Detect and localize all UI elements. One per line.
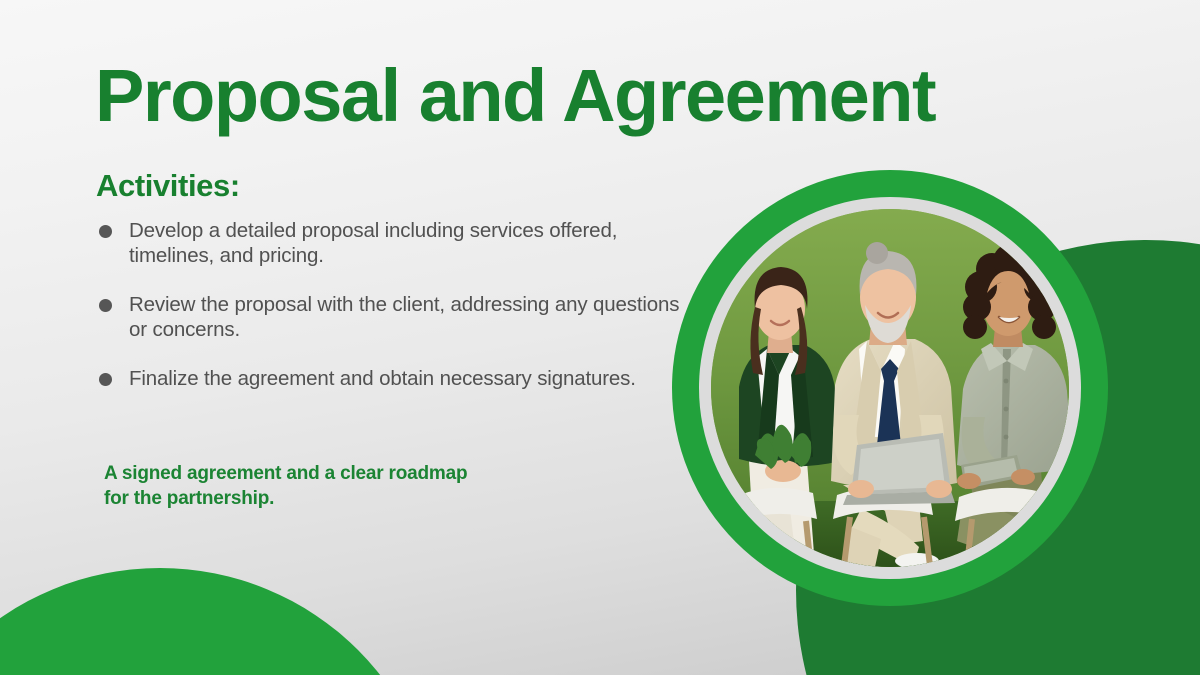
list-item-text: Finalize the agreement and obtain necess… — [129, 367, 636, 390]
bullet-dot-icon — [99, 299, 112, 312]
outcome-statement: A signed agreement and a clear roadmap f… — [104, 462, 467, 511]
list-item-text: Develop a detailed proposal including se… — [129, 219, 617, 267]
list-item: Develop a detailed proposal including se… — [96, 218, 696, 268]
decorative-blob-green-bottom-left — [0, 568, 440, 675]
page-title: Proposal and Agreement — [95, 57, 935, 135]
photo-ring-outer — [672, 170, 1108, 606]
activities-list: Develop a detailed proposal including se… — [96, 218, 696, 415]
section-heading-activities: Activities: — [96, 168, 240, 204]
slide-canvas: Proposal and Agreement Activities: Devel… — [0, 0, 1200, 675]
photo-ring-inner — [699, 197, 1081, 579]
list-item: Review the proposal with the client, add… — [96, 292, 696, 342]
bullet-dot-icon — [99, 225, 112, 238]
list-item: Finalize the agreement and obtain necess… — [96, 366, 696, 391]
team-meeting-photo — [711, 209, 1069, 567]
list-item-text: Review the proposal with the client, add… — [129, 293, 679, 341]
team-meeting-illustration — [711, 209, 1069, 567]
bullet-dot-icon — [99, 373, 112, 386]
